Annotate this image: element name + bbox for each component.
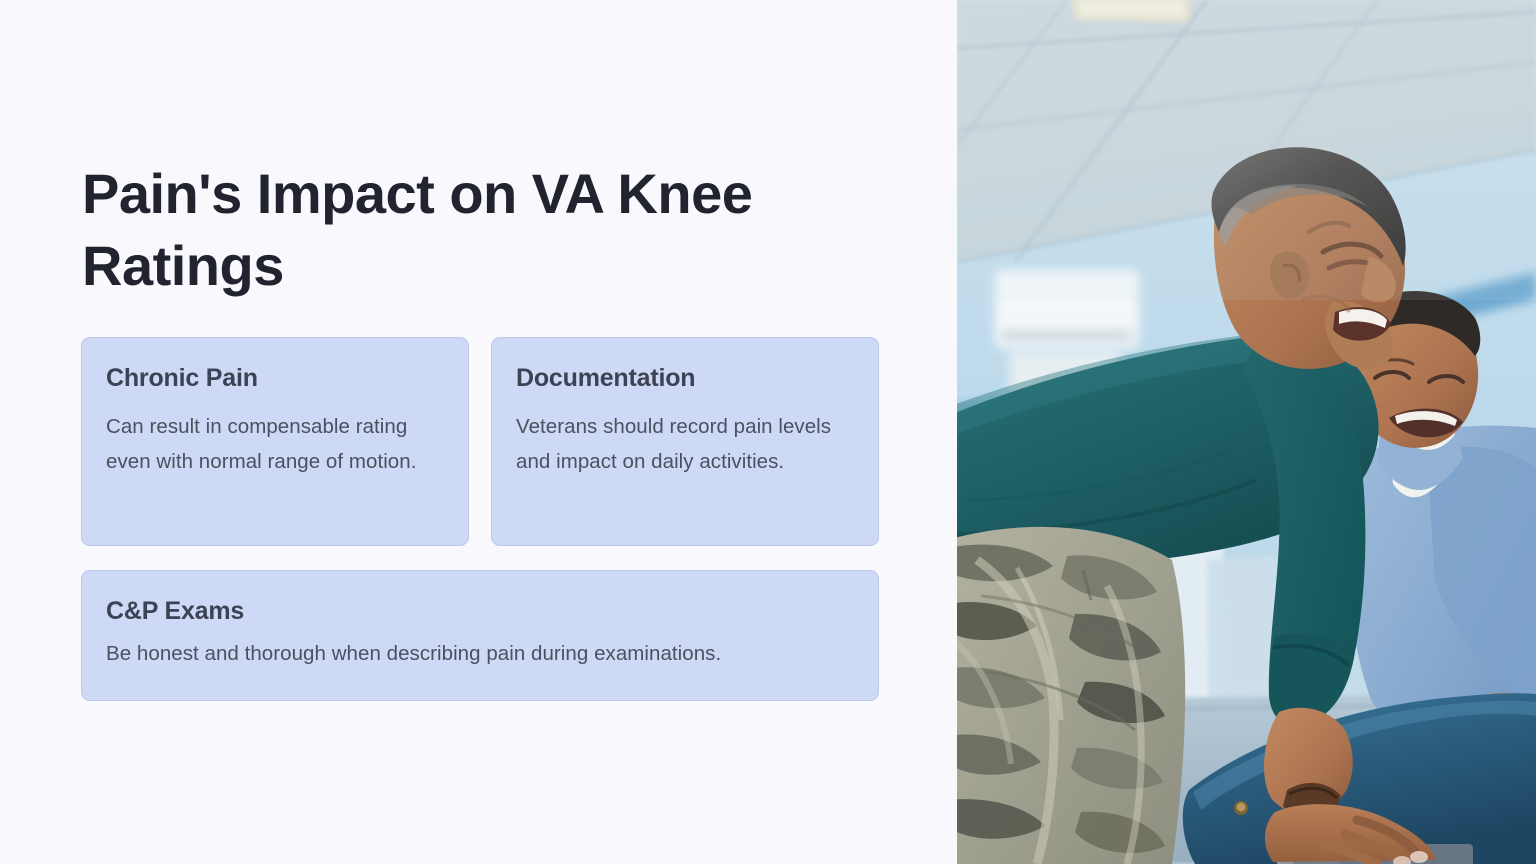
page-title: Pain's Impact on VA Knee Ratings <box>82 158 882 301</box>
card-title: C&P Exams <box>106 597 854 626</box>
slide-root: Pain's Impact on VA Knee Ratings Chronic… <box>0 0 1536 864</box>
card-body: Can result in compensable rating even wi… <box>106 409 444 480</box>
clinic-photo <box>957 0 1536 864</box>
card-documentation[interactable]: Documentation Veterans should record pai… <box>491 337 879 546</box>
card-cp-exams[interactable]: C&P Exams Be honest and thorough when de… <box>81 570 879 701</box>
cards-top-row: Chronic Pain Can result in compensable r… <box>81 337 879 546</box>
card-chronic-pain[interactable]: Chronic Pain Can result in compensable r… <box>81 337 469 546</box>
card-body: Veterans should record pain levels and i… <box>516 409 854 480</box>
clinic-photo-illustration <box>957 0 1536 864</box>
card-title: Documentation <box>516 364 854 393</box>
cards-container: Chronic Pain Can result in compensable r… <box>81 337 879 701</box>
card-body: Be honest and thorough when describing p… <box>106 640 854 669</box>
card-title: Chronic Pain <box>106 364 444 393</box>
content-panel: Pain's Impact on VA Knee Ratings Chronic… <box>0 0 957 864</box>
